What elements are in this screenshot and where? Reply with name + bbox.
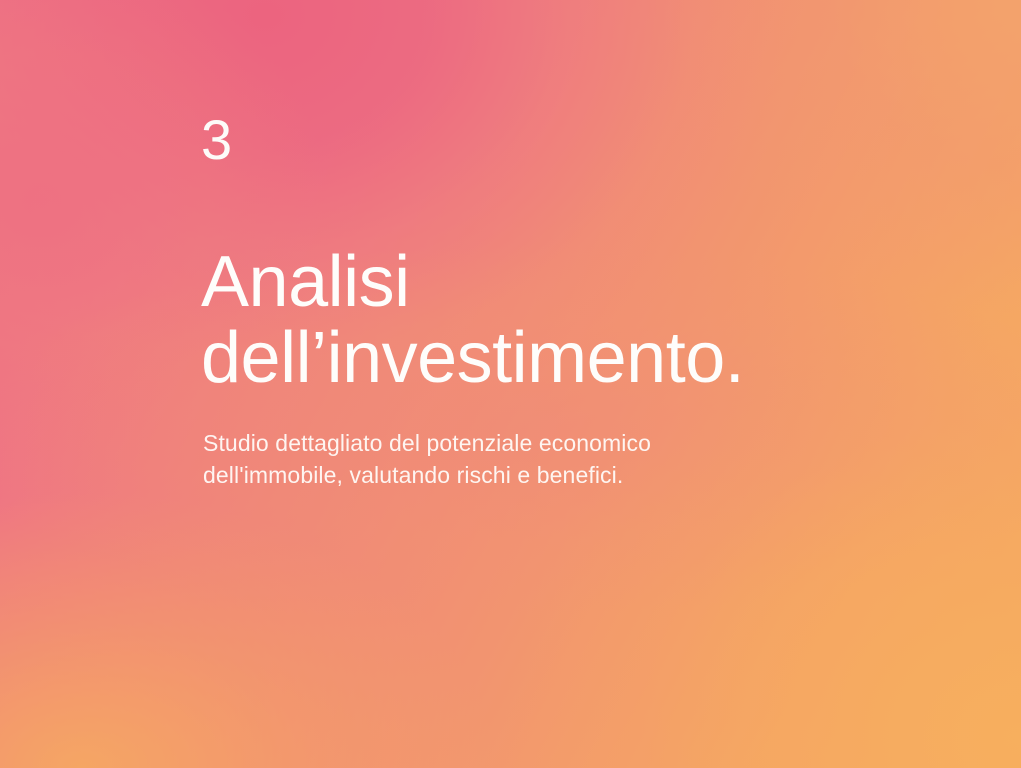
slide-content: 3 Analisi dell’investimento. Studio dett… — [201, 0, 901, 768]
slide-canvas: 3 Analisi dell’investimento. Studio dett… — [0, 0, 1021, 768]
slide-subtitle: Studio dettagliato del potenziale econom… — [203, 427, 651, 491]
section-number: 3 — [201, 108, 233, 172]
page-title: Analisi dell’investimento. — [201, 244, 744, 396]
